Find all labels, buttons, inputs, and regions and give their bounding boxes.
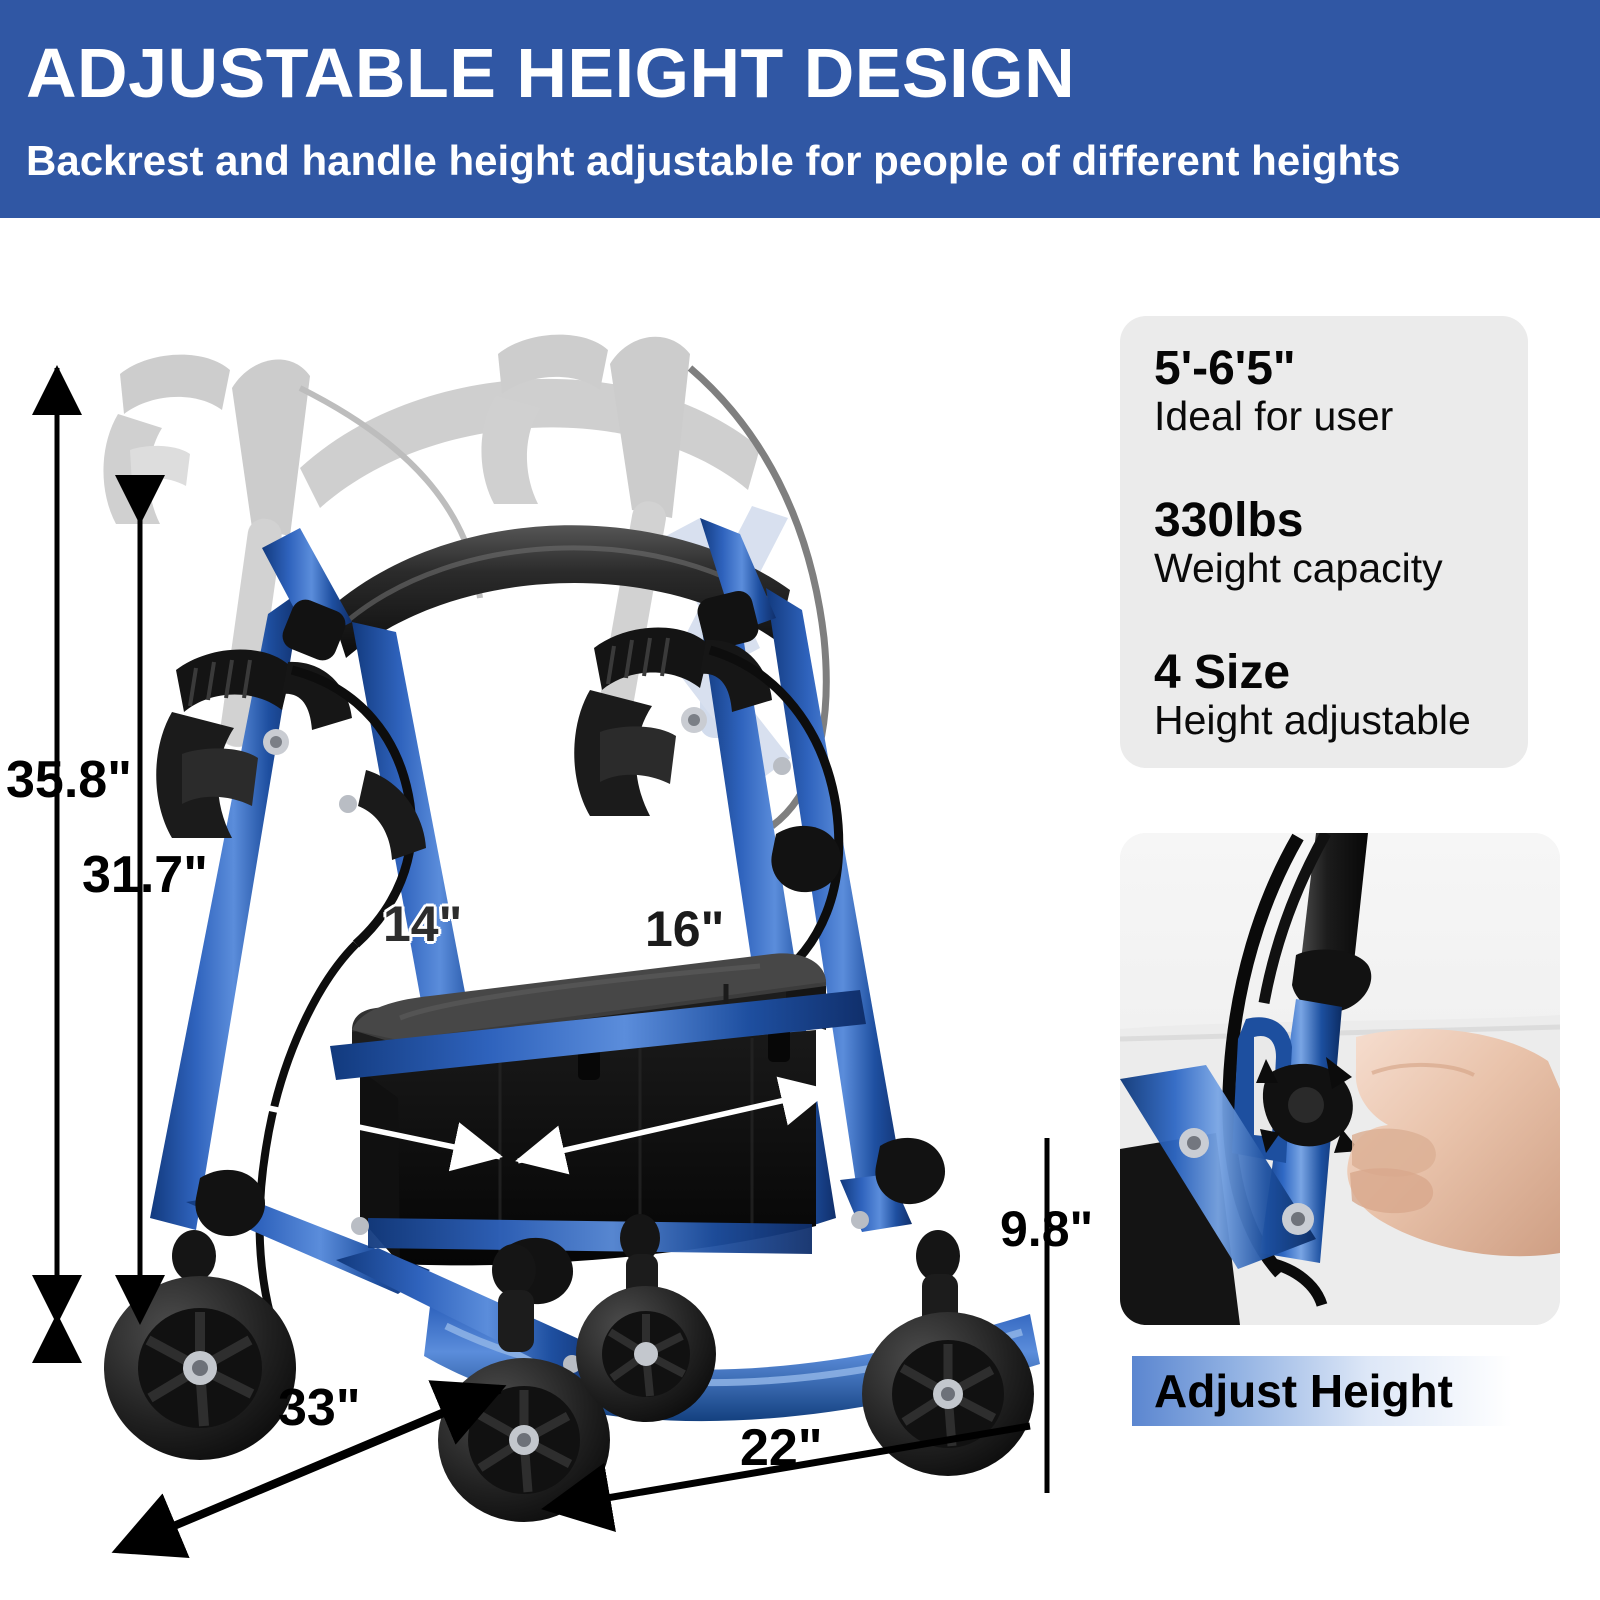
spec-card: 5'-6'5" Ideal for user 330lbs Weight cap… (1120, 316, 1528, 768)
spec-label: Height adjustable (1154, 698, 1524, 743)
spec-label: Ideal for user (1154, 394, 1524, 439)
spec-value: 5'-6'5" (1154, 344, 1524, 394)
dimension-wheel-height: 9.8" (1000, 1200, 1093, 1258)
adjust-height-caption-text: Adjust Height (1132, 1364, 1453, 1418)
dimension-seat-width: 16" (645, 900, 724, 958)
spec-item-size-count: 4 Size Height adjustable (1154, 648, 1524, 743)
spec-item-weight-capacity: 330lbs Weight capacity (1154, 496, 1524, 591)
adjust-height-caption: Adjust Height (1132, 1356, 1512, 1426)
adjust-height-photo (1120, 833, 1560, 1325)
product-illustration (0, 218, 1110, 1600)
dimension-overall-height: 35.8" (6, 750, 132, 810)
spec-value: 330lbs (1154, 496, 1524, 546)
page-title: ADJUSTABLE HEIGHT DESIGN (26, 38, 1075, 108)
spec-value: 4 Size (1154, 648, 1524, 698)
dimension-seat-depth: 14" (383, 895, 462, 953)
spec-item-user-height: 5'-6'5" Ideal for user (1154, 344, 1524, 439)
dimension-seat-height: 31.7" (82, 845, 208, 905)
dimension-depth: 33" (278, 1378, 361, 1438)
header-banner: ADJUSTABLE HEIGHT DESIGN Backrest and ha… (0, 0, 1600, 218)
page-subtitle: Backrest and handle height adjustable fo… (26, 140, 1401, 182)
spec-label: Weight capacity (1154, 546, 1524, 591)
dimension-width: 22" (740, 1418, 823, 1478)
